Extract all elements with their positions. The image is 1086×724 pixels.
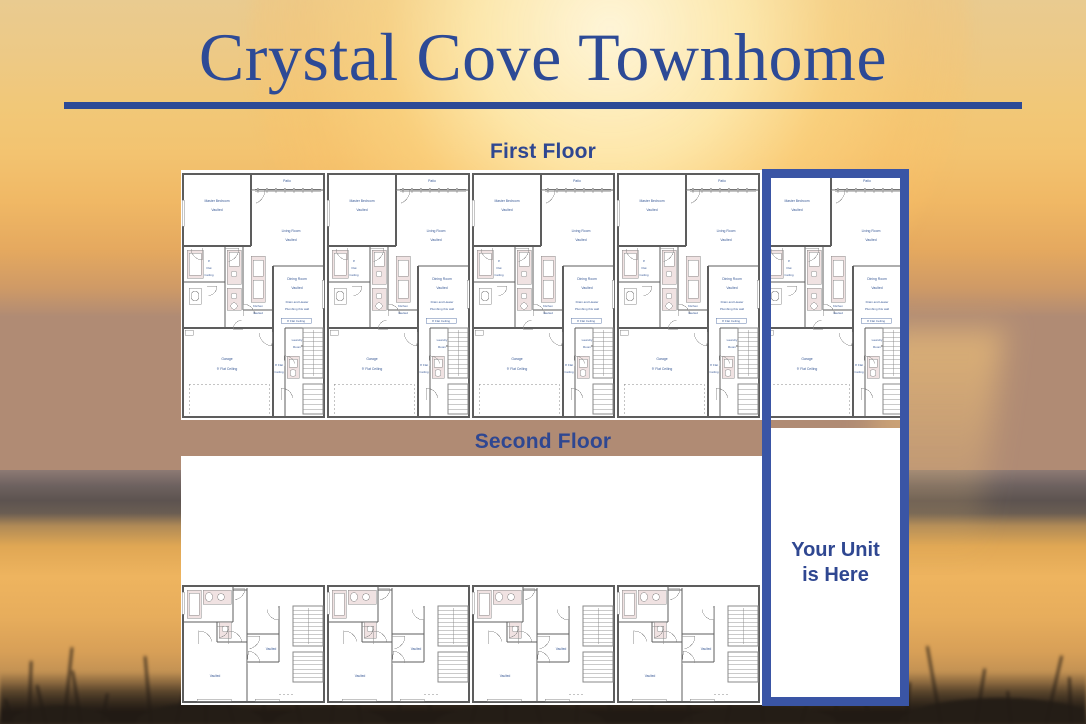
first-floor-unit: Master BedroomVaultedPatioLiving RoomVau… <box>616 170 761 420</box>
first-floor-unit: Master BedroomVaultedPatioLiving RoomVau… <box>761 170 906 420</box>
svg-text:Vaulted: Vaulted <box>575 238 586 242</box>
first-floor-unit: Master BedroomVaultedPatioLiving RoomVau… <box>181 170 326 420</box>
reed-blade <box>926 646 942 724</box>
reed-blade <box>975 669 986 724</box>
svg-text:Patio: Patio <box>573 179 581 183</box>
svg-text:Vaulted: Vaulted <box>285 238 296 242</box>
reed-blade <box>72 671 82 724</box>
svg-text:Ceiling: Ceiling <box>274 370 284 374</box>
svg-text:Ceiling: Ceiling <box>204 273 214 277</box>
svg-text:9' Flat: 9' Flat <box>420 363 428 367</box>
svg-text:Master Bedroom: Master Bedroom <box>784 199 809 203</box>
svg-text:Kitchen: Kitchen <box>688 304 698 308</box>
svg-text:Ceiling: Ceiling <box>419 370 429 374</box>
reed-blade <box>144 656 152 724</box>
svg-text:Dining Room: Dining Room <box>867 277 887 281</box>
svg-text:Garage: Garage <box>511 357 522 361</box>
svg-text:9' Flat Ceiling: 9' Flat Ceiling <box>507 367 528 371</box>
second-floor-unit: VaultedVaulted <box>616 456 761 705</box>
svg-text:Vaulted: Vaulted <box>556 647 567 651</box>
svg-text:9' Flat Ceiling: 9' Flat Ceiling <box>867 319 885 323</box>
svg-text:Vaulted: Vaulted <box>500 674 511 678</box>
svg-text:Patio: Patio <box>863 179 871 183</box>
svg-text:Master Bedroom: Master Bedroom <box>639 199 664 203</box>
svg-text:Room: Room <box>583 345 592 349</box>
svg-text:Vaulted: Vaulted <box>720 238 731 242</box>
svg-text:Master Bedroom: Master Bedroom <box>349 199 374 203</box>
svg-text:Ceiling: Ceiling <box>349 273 359 277</box>
svg-text:Master Bedroom: Master Bedroom <box>494 199 519 203</box>
svg-text:Vaulted: Vaulted <box>266 647 277 651</box>
svg-text:Vaulted: Vaulted <box>356 208 367 212</box>
svg-text:Garage: Garage <box>801 357 812 361</box>
first-floor-unit: Master BedroomVaultedPatioLiving RoomVau… <box>471 170 616 420</box>
svg-text:Vaulted: Vaulted <box>833 311 843 315</box>
svg-text:Living Room: Living Room <box>862 229 881 233</box>
svg-text:Ceiling: Ceiling <box>854 370 864 374</box>
svg-text:Flat: Flat <box>351 266 356 270</box>
svg-text:Flat: Flat <box>496 266 501 270</box>
svg-text:9' Flat Ceiling: 9' Flat Ceiling <box>722 319 740 323</box>
svg-text:Vaulted: Vaulted <box>211 208 222 212</box>
svg-text:Garage: Garage <box>366 357 377 361</box>
svg-text:Flat: Flat <box>206 266 211 270</box>
svg-text:Vaulted: Vaulted <box>701 647 712 651</box>
reed-blade <box>36 685 47 724</box>
svg-text:9' Flat Ceiling: 9' Flat Ceiling <box>432 319 450 323</box>
svg-text:Room: Room <box>873 345 882 349</box>
svg-text:Room: Room <box>438 345 447 349</box>
svg-text:Vaulted: Vaulted <box>398 311 408 315</box>
your-unit-label-line2: is Here <box>791 563 880 587</box>
svg-text:Vaulted: Vaulted <box>355 674 366 678</box>
your-unit-label: Your Unit is Here <box>771 428 900 697</box>
svg-text:Laundry: Laundry <box>872 338 883 342</box>
svg-text:Flat: Flat <box>641 266 646 270</box>
svg-text:Vaulted: Vaulted <box>253 311 263 315</box>
page-title: Crystal Cove Townhome <box>0 22 1086 93</box>
svg-text:Room: Room <box>728 345 737 349</box>
svg-text:Vaulted: Vaulted <box>688 311 698 315</box>
svg-text:Vaulted: Vaulted <box>646 208 657 212</box>
reed-blade <box>1045 656 1063 724</box>
svg-text:Plumbing this wall: Plumbing this wall <box>575 307 599 311</box>
svg-text:Ceiling: Ceiling <box>494 273 504 277</box>
svg-text:Vaulted: Vaulted <box>581 286 592 290</box>
svg-text:Ceiling: Ceiling <box>564 370 574 374</box>
your-unit-label-line1: Your Unit <box>791 538 880 562</box>
svg-text:9' Flat: 9' Flat <box>565 363 573 367</box>
svg-text:Vaulted: Vaulted <box>436 286 447 290</box>
second-floor-unit: VaultedVaulted <box>326 456 471 705</box>
svg-text:Vaulted: Vaulted <box>791 208 802 212</box>
svg-text:9' Flat Ceiling: 9' Flat Ceiling <box>797 367 818 371</box>
reed-blade <box>4 699 14 724</box>
svg-text:Plumbing this wall: Plumbing this wall <box>430 307 454 311</box>
svg-text:Drain and Heater: Drain and Heater <box>866 300 889 304</box>
svg-text:9' Flat: 9' Flat <box>710 363 718 367</box>
svg-text:Drain and Heater: Drain and Heater <box>576 300 599 304</box>
svg-text:Drain and Heater: Drain and Heater <box>286 300 309 304</box>
svg-text:Garage: Garage <box>221 357 232 361</box>
svg-text:Patio: Patio <box>428 179 436 183</box>
svg-text:Ceiling: Ceiling <box>784 273 794 277</box>
reed-blade <box>63 647 73 724</box>
svg-text:Laundry: Laundry <box>292 338 303 342</box>
svg-text:Vaulted: Vaulted <box>726 286 737 290</box>
svg-text:9' Flat Ceiling: 9' Flat Ceiling <box>362 367 383 371</box>
svg-text:Kitchen: Kitchen <box>398 304 408 308</box>
svg-text:9' Flat Ceiling: 9' Flat Ceiling <box>287 319 305 323</box>
svg-text:Plumbing this wall: Plumbing this wall <box>720 307 744 311</box>
svg-text:Vaulted: Vaulted <box>645 674 656 678</box>
svg-text:Laundry: Laundry <box>727 338 738 342</box>
svg-text:Vaulted: Vaulted <box>501 208 512 212</box>
svg-text:Kitchen: Kitchen <box>253 304 263 308</box>
svg-text:Laundry: Laundry <box>437 338 448 342</box>
svg-text:Dining Room: Dining Room <box>577 277 597 281</box>
first-floor-unit: Master BedroomVaultedPatioLiving RoomVau… <box>326 170 471 420</box>
svg-text:Living Room: Living Room <box>572 229 591 233</box>
svg-text:Vaulted: Vaulted <box>430 238 441 242</box>
reed-blade <box>1007 691 1012 724</box>
svg-text:Ceiling: Ceiling <box>709 370 719 374</box>
svg-text:Vaulted: Vaulted <box>291 286 302 290</box>
svg-text:9' Flat Ceiling: 9' Flat Ceiling <box>652 367 673 371</box>
svg-text:9' Flat Ceiling: 9' Flat Ceiling <box>577 319 595 323</box>
svg-text:Vaulted: Vaulted <box>411 647 422 651</box>
first-floor-plan-panel: Master BedroomVaultedPatioLiving RoomVau… <box>181 170 906 420</box>
svg-text:Dining Room: Dining Room <box>287 277 307 281</box>
svg-text:Dining Room: Dining Room <box>432 277 452 281</box>
title-underline-rule <box>64 102 1022 109</box>
svg-text:Plumbing this wall: Plumbing this wall <box>285 307 309 311</box>
reed-blade <box>101 693 108 724</box>
svg-text:Vaulted: Vaulted <box>871 286 882 290</box>
svg-text:Vaulted: Vaulted <box>865 238 876 242</box>
svg-text:9' Flat: 9' Flat <box>275 363 283 367</box>
svg-text:Living Room: Living Room <box>717 229 736 233</box>
marketing-flyer: Crystal Cove Townhome First Floor Master… <box>0 0 1086 724</box>
svg-text:Drain and Heater: Drain and Heater <box>431 300 454 304</box>
reed-blade <box>1068 677 1072 724</box>
svg-text:Living Room: Living Room <box>427 229 446 233</box>
first-floor-heading: First Floor <box>0 140 1086 164</box>
second-floor-unit: VaultedVaulted <box>471 456 616 705</box>
svg-text:9' Flat: 9' Flat <box>855 363 863 367</box>
second-floor-heading: Second Floor <box>0 430 1086 454</box>
svg-text:Ceiling: Ceiling <box>639 273 649 277</box>
svg-text:Plumbing this wall: Plumbing this wall <box>865 307 889 311</box>
svg-text:Garage: Garage <box>656 357 667 361</box>
reed-blade <box>28 661 32 724</box>
svg-text:Kitchen: Kitchen <box>833 304 843 308</box>
svg-text:Laundry: Laundry <box>582 338 593 342</box>
svg-text:Room: Room <box>293 345 302 349</box>
svg-text:Vaulted: Vaulted <box>543 311 553 315</box>
svg-text:Patio: Patio <box>718 179 726 183</box>
svg-text:Dining Room: Dining Room <box>722 277 742 281</box>
svg-text:Vaulted: Vaulted <box>210 674 221 678</box>
svg-text:Patio: Patio <box>283 179 291 183</box>
second-floor-unit: VaultedVaulted <box>181 456 326 705</box>
svg-text:Flat: Flat <box>786 266 791 270</box>
svg-text:Kitchen: Kitchen <box>543 304 553 308</box>
svg-text:Drain and Heater: Drain and Heater <box>721 300 744 304</box>
svg-text:Living Room: Living Room <box>282 229 301 233</box>
svg-text:9' Flat Ceiling: 9' Flat Ceiling <box>217 367 238 371</box>
svg-text:Master Bedroom: Master Bedroom <box>204 199 229 203</box>
